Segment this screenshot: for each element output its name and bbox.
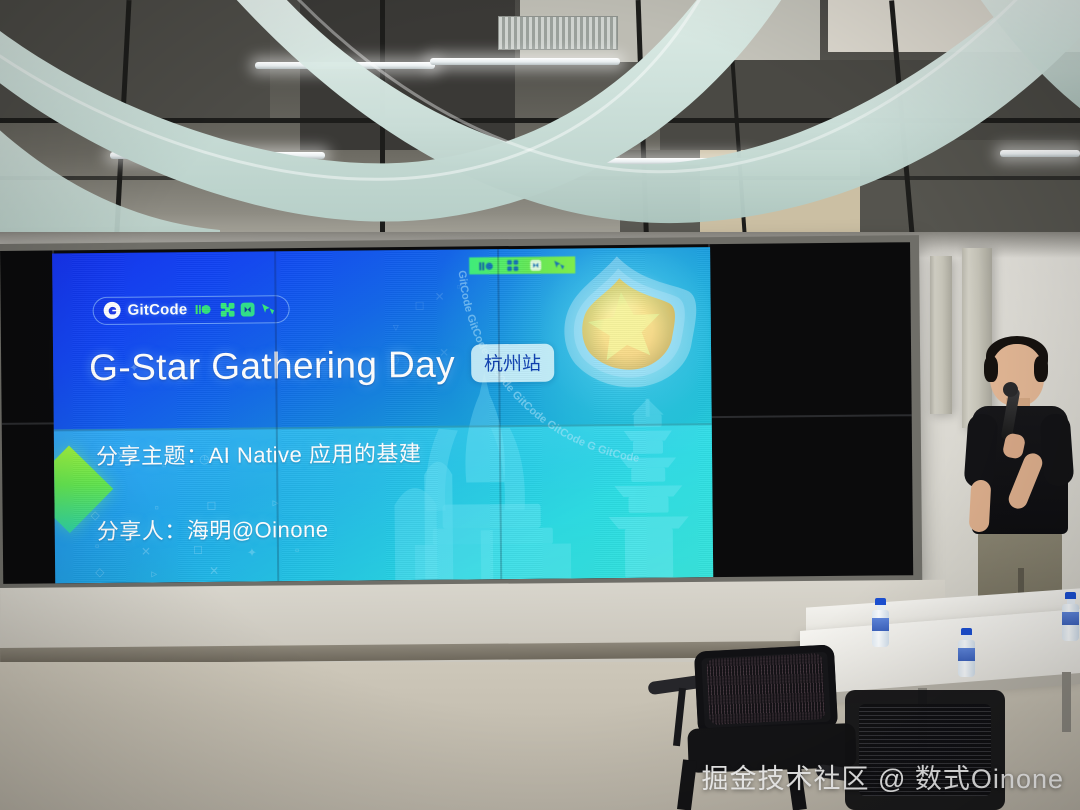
bottle-cap bbox=[1065, 592, 1076, 599]
deco-icon: ▫ bbox=[295, 543, 299, 557]
chair-mesh bbox=[706, 653, 825, 725]
presenter-hair-side-left bbox=[984, 356, 998, 382]
slide-topic-line: 分享主题：AI Native 应用的基建 bbox=[96, 436, 422, 471]
watermark: 掘金技术社区 @ 数式Oinone bbox=[702, 757, 1064, 796]
presenter-hair-side-right bbox=[1034, 356, 1048, 382]
bottle-label bbox=[872, 618, 889, 631]
deco-icon: ▫ bbox=[456, 280, 460, 294]
video-wall[interactable]: ✦ ◇ ✕ ▫ ◷ ✕ ▿ ▫ ◻ ▹ ▫ ✕ ◻ ✦ ▫ ◇ ▹ ✕ ✕ ▿ bbox=[0, 235, 922, 592]
water-bottle bbox=[1062, 592, 1079, 641]
ceiling bbox=[0, 0, 1080, 248]
bottle-body bbox=[958, 640, 975, 677]
deco-icon: ◇ bbox=[95, 565, 104, 579]
puzzle-icon bbox=[220, 302, 234, 316]
chair-base-left bbox=[677, 759, 697, 810]
rocket-icon bbox=[194, 303, 214, 316]
bottle-cap bbox=[875, 598, 886, 605]
deco-icon: ▹ bbox=[151, 566, 157, 580]
presenter-arm-left bbox=[969, 480, 992, 533]
deco-icon: ▫ bbox=[154, 500, 158, 514]
strip-box-icon bbox=[530, 260, 541, 271]
strip-cursor-icon bbox=[553, 260, 565, 271]
gitcode-logo-pill[interactable]: GitCode bbox=[93, 295, 290, 325]
fabric-drape bbox=[0, 0, 1080, 248]
slide-speaker-line: 分享人：海明@Oinone bbox=[97, 512, 329, 546]
slide-green-icon-strip bbox=[469, 256, 575, 274]
presenter bbox=[962, 330, 1080, 630]
slide-headline-row: G-Star Gathering Day 杭州站 bbox=[89, 344, 554, 386]
bottle-cap bbox=[961, 628, 972, 635]
bottle-label bbox=[958, 648, 975, 661]
deco-icon: ▿ bbox=[393, 320, 399, 334]
deco-icon: ✕ bbox=[141, 545, 151, 559]
cursor-icon bbox=[260, 302, 275, 316]
water-bottle bbox=[958, 628, 975, 677]
video-wall-screen-array[interactable]: ✦ ◇ ✕ ▫ ◷ ✕ ▿ ▫ ◻ ▹ ▫ ✕ ◻ ✦ ▫ ◇ ▹ ✕ ✕ ▿ bbox=[0, 242, 913, 584]
deco-icon: ✦ bbox=[247, 545, 257, 559]
star-decoration bbox=[528, 253, 710, 425]
deco-icon: ◻ bbox=[206, 498, 216, 512]
chair-arm-post bbox=[673, 688, 686, 746]
deco-icon: ◻ bbox=[415, 298, 425, 312]
box-arrows-icon bbox=[240, 302, 254, 316]
deco-icon: ✕ bbox=[209, 564, 219, 578]
strip-puzzle-icon bbox=[507, 260, 518, 271]
gitcode-wordmark: GitCode bbox=[128, 301, 188, 319]
slide-title: G-Star Gathering Day bbox=[89, 345, 455, 386]
photo-scene: ✦ ◇ ✕ ▫ ◷ ✕ ▿ ▫ ◻ ▹ ▫ ✕ ◻ ✦ ▫ ◇ ▹ ✕ ✕ ▿ bbox=[0, 0, 1080, 810]
presenter-sleeve-left bbox=[963, 413, 998, 489]
deco-icon: ✕ bbox=[434, 290, 444, 304]
presenter-sleeve-right bbox=[1040, 413, 1075, 487]
wall-column-panel bbox=[930, 256, 952, 414]
bottle-label bbox=[1062, 612, 1079, 625]
strip-rocket-icon bbox=[479, 261, 495, 271]
city-badge: 杭州站 bbox=[471, 344, 554, 383]
bottle-body bbox=[1062, 604, 1079, 641]
gitcode-icon-row bbox=[194, 302, 275, 317]
g-circle-icon bbox=[104, 302, 121, 319]
presentation-slide: ✦ ◇ ✕ ▫ ◷ ✕ ▿ ▫ ◻ ▹ ▫ ✕ ◻ ✦ ▫ ◇ ▹ ✕ ✕ ▿ bbox=[52, 247, 713, 583]
table-leg bbox=[1062, 672, 1071, 732]
